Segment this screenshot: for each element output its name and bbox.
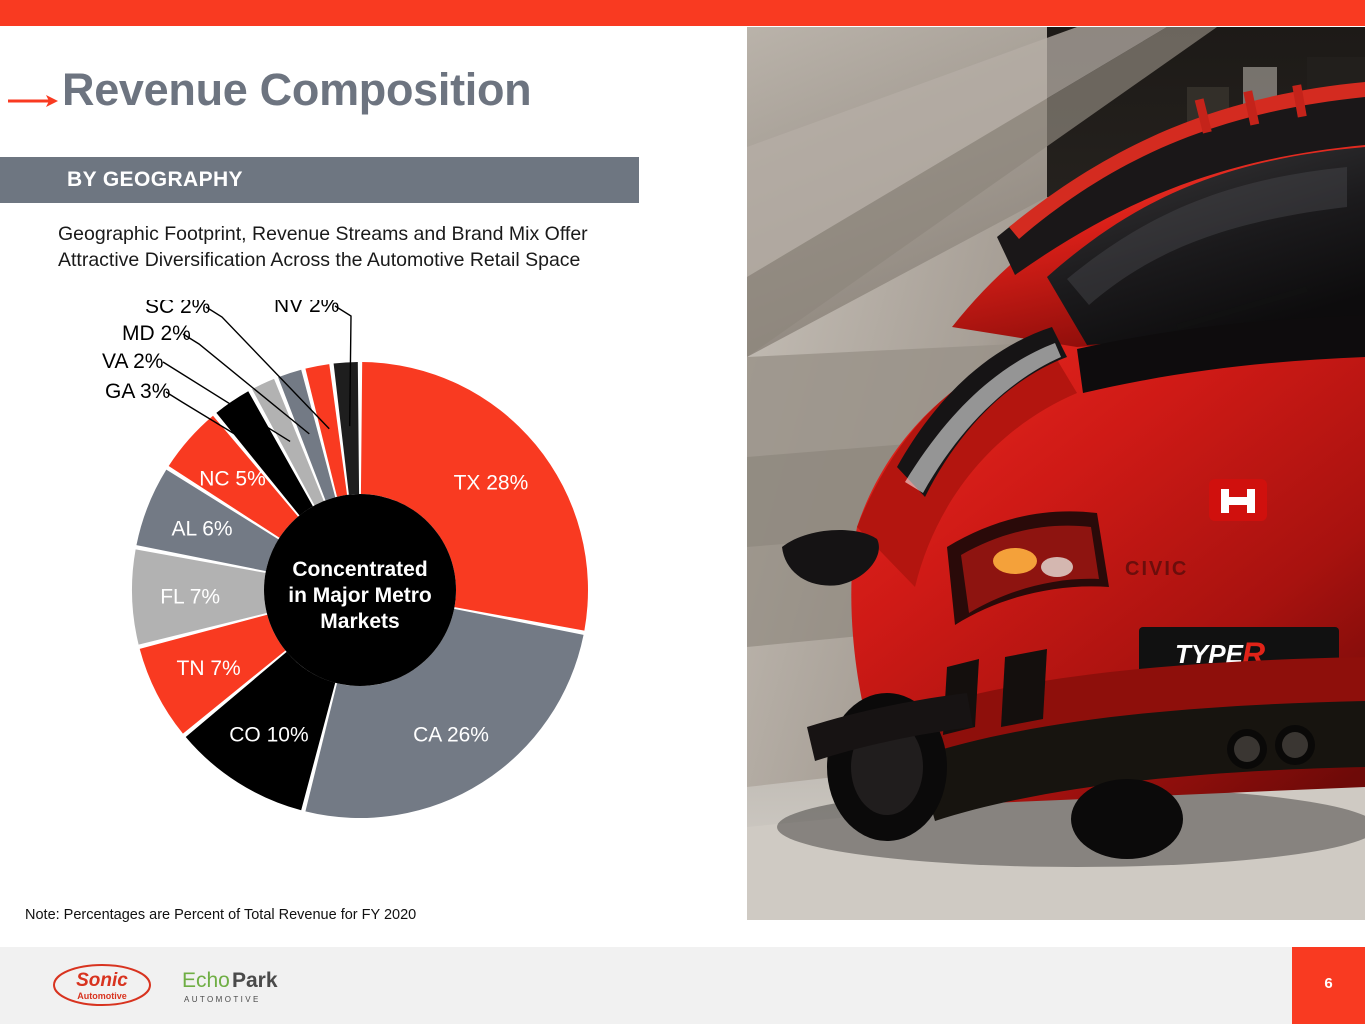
slice-label-va: VA 2% [102,350,163,373]
section-band: BY GEOGRAPHY [0,157,639,203]
slice-label-ca: CA 26% [413,723,489,746]
page-title-row: Revenue Composition [0,68,700,134]
slice-label-sc: SC 2% [145,300,210,318]
slice-label-ga: GA 3% [105,380,170,403]
arrow-right-icon [8,90,58,112]
revenue-by-geography-chart: Concentrated in Major Metro Markets TX 2… [100,300,660,860]
hero-photo: CIVIC TYPE R HONDA The Power of Dreams [747,27,1365,920]
echopark-logo-subtext: AUTOMOTIVE [184,995,261,1004]
subtitle-text: Geographic Footprint, Revenue Streams an… [58,222,658,274]
page-title: Revenue Composition [62,64,531,116]
slice-label-tn: TN 7% [177,657,241,680]
slice-label-fl: FL 7% [160,585,220,608]
slice-label-md: MD 2% [122,322,191,345]
sonic-logo-subtext: Automotive [77,991,127,1001]
echopark-logo-echo: Echo [182,969,230,992]
center-label-line-1: Concentrated [292,558,427,581]
page-number-box: 6 [1292,947,1365,1024]
echopark-logo-park: Park [232,969,278,992]
car-photo-illustration: CIVIC TYPE R HONDA The Power of Dreams [747,27,1365,920]
sonic-logo-wordmark: Sonic [76,970,128,991]
top-accent-bar [0,0,1365,26]
slice-label-nv: NV 2% [274,300,339,317]
slide-root: Revenue Composition BY GEOGRAPHY Geograp… [0,0,1365,1024]
slice-label-co: CO 10% [229,723,308,746]
echopark-automotive-logo: Echo Park AUTOMOTIVE [180,963,285,1008]
center-label-line-3: Markets [320,610,399,633]
donut-chart-svg: Concentrated in Major Metro Markets TX 2… [100,300,660,860]
center-label-line-2: in Major Metro [288,584,432,607]
section-band-label: BY GEOGRAPHY [67,168,243,192]
footnote: Note: Percentages are Percent of Total R… [25,907,416,923]
sonic-automotive-logo: Sonic Automotive [52,961,152,1008]
slice-label-al: AL 6% [171,517,232,540]
slice-label-tx: TX 28% [454,472,529,495]
page-number: 6 [1292,975,1365,992]
badge-civic-text: CIVIC [1125,558,1188,580]
slide-footer: Sonic Automotive Echo Park AUTOMOTIVE 6 [0,947,1365,1024]
slice-label-nc: NC 5% [199,468,266,491]
